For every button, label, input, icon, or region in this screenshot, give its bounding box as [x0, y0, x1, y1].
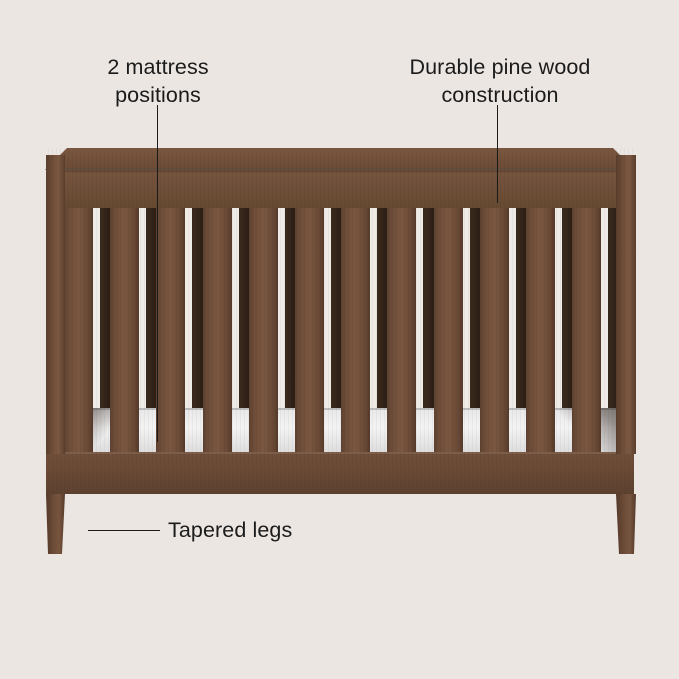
crib-top-rail-face: [45, 148, 635, 170]
annotation-label-pine-construction: Durable pine wood construction: [372, 54, 628, 110]
product-feature-image: 2 mattress positions Durable pine wood c…: [0, 0, 679, 679]
crib-slat-gap: [601, 202, 608, 408]
crib-leg-right: [616, 494, 636, 554]
annotation-leader-tapered-legs: [88, 530, 160, 531]
crib-slat: [156, 202, 185, 454]
crib-slat-gap: [185, 202, 192, 408]
crib-slat: [572, 202, 601, 454]
crib-slat-gap: [509, 202, 516, 408]
annotation-label-tapered-legs: Tapered legs: [168, 517, 368, 545]
crib-slat-gap: [232, 202, 239, 408]
crib-slat: [387, 202, 416, 454]
crib-slat-gap: [416, 202, 423, 408]
crib-slat: [64, 202, 93, 454]
crib-slat-gap: [324, 202, 331, 408]
crib-slat-gap: [278, 202, 285, 408]
annotation-leader-mattress-positions: [157, 105, 158, 442]
crib-slat: [249, 202, 278, 454]
crib-slat: [341, 202, 370, 454]
crib-slat: [203, 202, 232, 454]
crib-slat-gap: [370, 202, 377, 408]
crib-top-rail-inner-shadow: [64, 168, 619, 174]
crib-top-rail: [46, 168, 634, 208]
crib-slat: [434, 202, 463, 454]
crib-leg-left: [46, 494, 65, 554]
crib-slat: [110, 202, 139, 454]
annotation-label-mattress-positions: 2 mattress positions: [56, 54, 260, 110]
annotation-leader-pine-construction: [497, 105, 498, 203]
crib-slat-gap: [555, 202, 562, 408]
crib-slat: [526, 202, 555, 454]
crib-slat-gap: [463, 202, 470, 408]
crib-post-right: [616, 155, 636, 454]
crib-post-left: [46, 155, 65, 454]
crib-slat: [295, 202, 324, 454]
crib-slat-gap: [93, 202, 100, 408]
crib-bottom-rail: [46, 452, 634, 494]
crib-slat: [480, 202, 509, 454]
crib-slat-gap: [139, 202, 146, 408]
